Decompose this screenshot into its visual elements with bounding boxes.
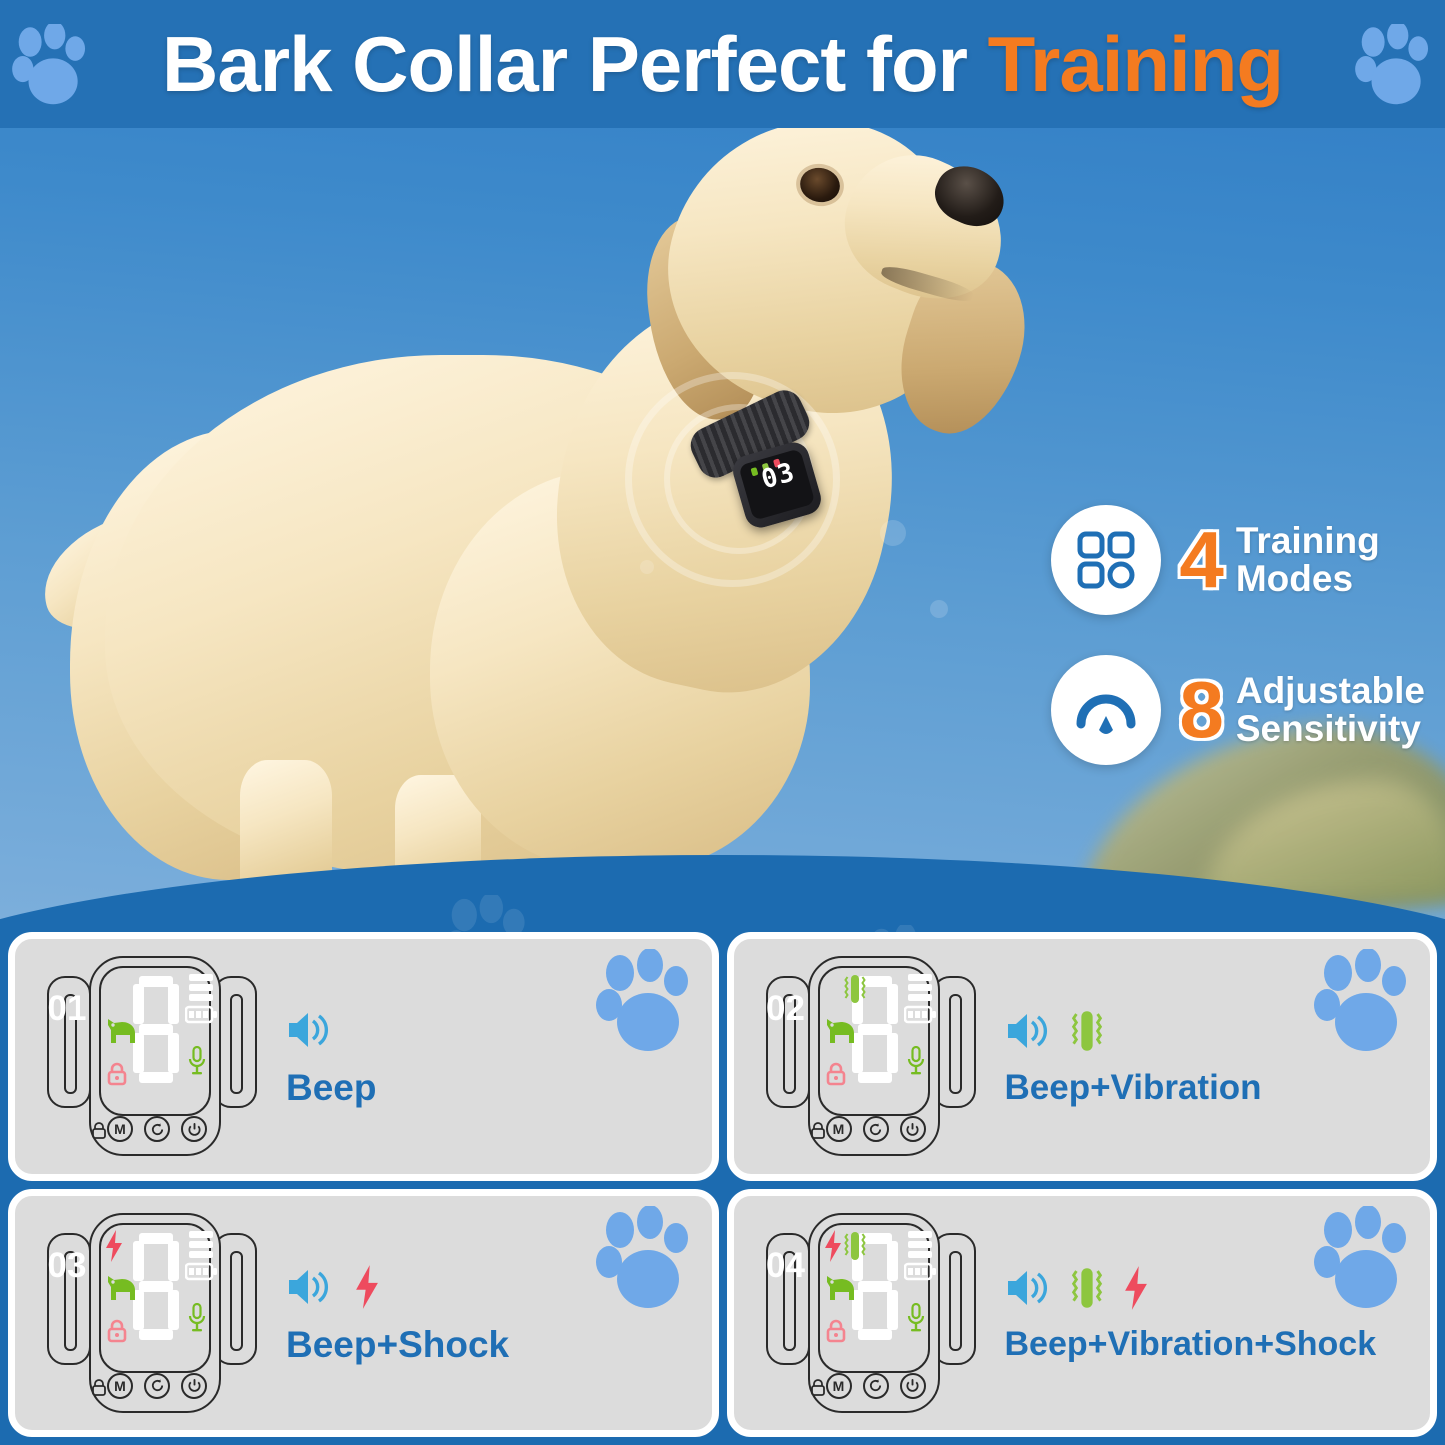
cycle-button[interactable] bbox=[863, 1373, 889, 1399]
step-badge bbox=[592, 949, 696, 1057]
microphone-icon bbox=[906, 1046, 926, 1076]
power-button[interactable] bbox=[900, 1116, 926, 1142]
vibration-icon bbox=[1071, 1007, 1103, 1055]
step-badge bbox=[592, 1206, 696, 1314]
shock-icon bbox=[1121, 1264, 1151, 1312]
speaker-icon bbox=[286, 1008, 334, 1052]
collar-device-diagram: M bbox=[37, 1207, 272, 1419]
step-badge bbox=[1310, 949, 1414, 1057]
padlock-icon bbox=[826, 1062, 846, 1086]
title-main: Bark Collar Perfect for bbox=[162, 20, 988, 108]
feature-training-modes: 4 Training Modes bbox=[1051, 505, 1425, 615]
bokeh-dot bbox=[880, 520, 906, 546]
mode-card[interactable]: M bbox=[727, 1189, 1438, 1438]
mode-card[interactable]: M bbox=[8, 1189, 719, 1438]
step-badge-number: 01 bbox=[15, 989, 119, 1029]
feature-text: Training Modes bbox=[1236, 522, 1380, 597]
refresh-icon bbox=[150, 1122, 165, 1137]
power-button[interactable] bbox=[181, 1116, 207, 1142]
collar-device-diagram: M bbox=[37, 950, 272, 1162]
padlock-icon bbox=[810, 1378, 826, 1396]
feature-number: 8 bbox=[1179, 670, 1224, 750]
header-banner: Bark Collar Perfect for Training bbox=[0, 0, 1445, 128]
vibration-icon bbox=[844, 972, 866, 1006]
battery-level-icon bbox=[904, 974, 936, 1030]
cycle-button[interactable] bbox=[863, 1116, 889, 1142]
padlock-icon bbox=[91, 1378, 107, 1396]
power-icon bbox=[187, 1122, 202, 1137]
feature-icon-circle bbox=[1051, 505, 1161, 615]
mode-button[interactable]: M bbox=[107, 1116, 133, 1142]
product-infographic: 03 Bark Collar Perfect for Training bbox=[0, 0, 1445, 1445]
power-icon bbox=[905, 1378, 920, 1393]
microphone-icon bbox=[906, 1303, 926, 1333]
power-button[interactable] bbox=[181, 1373, 207, 1399]
speaker-icon bbox=[1005, 1009, 1053, 1053]
microphone-icon bbox=[187, 1303, 207, 1333]
feature-line-2: Sensitivity bbox=[1236, 710, 1425, 748]
feature-number: 4 bbox=[1179, 520, 1224, 600]
lcd-digit bbox=[133, 1233, 179, 1341]
power-icon bbox=[905, 1122, 920, 1137]
refresh-icon bbox=[868, 1122, 883, 1137]
mode-card[interactable]: M bbox=[8, 932, 719, 1181]
speaker-icon bbox=[1005, 1266, 1053, 1310]
feature-line-1: Training bbox=[1236, 522, 1380, 560]
speaker-icon bbox=[286, 1265, 334, 1309]
vibration-icon bbox=[844, 1229, 866, 1263]
mode-label: Beep+Shock bbox=[286, 1324, 712, 1366]
bokeh-dot bbox=[640, 560, 654, 574]
mode-card-grid: M bbox=[0, 932, 1445, 1445]
feature-icon-circle bbox=[1051, 655, 1161, 765]
feature-line-1: Adjustable bbox=[1236, 672, 1425, 710]
device-button-row: M bbox=[818, 1116, 930, 1146]
battery-level-icon bbox=[185, 1231, 217, 1287]
refresh-icon bbox=[868, 1378, 883, 1393]
shock-icon bbox=[352, 1263, 382, 1311]
page-title: Bark Collar Perfect for Training bbox=[162, 19, 1283, 110]
power-button[interactable] bbox=[900, 1373, 926, 1399]
collar-device-diagram: M bbox=[756, 1207, 991, 1419]
title-accent: Training bbox=[988, 20, 1283, 108]
microphone-icon bbox=[187, 1046, 207, 1076]
grid-four-squares-icon bbox=[1075, 529, 1137, 591]
bokeh-dot bbox=[930, 600, 948, 618]
mode-label: Beep+Vibration bbox=[1005, 1068, 1431, 1108]
vibration-icon bbox=[1071, 1264, 1103, 1312]
battery-level-icon bbox=[904, 1231, 936, 1287]
step-badge-number: 03 bbox=[15, 1246, 119, 1286]
step-badge-number: 04 bbox=[734, 1246, 838, 1286]
refresh-icon bbox=[150, 1378, 165, 1393]
mode-button[interactable]: M bbox=[107, 1373, 133, 1399]
mode-button[interactable]: M bbox=[826, 1373, 852, 1399]
device-button-row: M bbox=[99, 1373, 211, 1403]
mode-label: Beep+Vibration+Shock bbox=[1005, 1325, 1431, 1364]
device-button-row: M bbox=[818, 1373, 930, 1403]
mode-label: Beep bbox=[286, 1067, 712, 1109]
hero-photo: 03 bbox=[0, 0, 1445, 960]
gauge-icon bbox=[1073, 680, 1139, 740]
cycle-button[interactable] bbox=[144, 1116, 170, 1142]
feature-text: Adjustable Sensitivity bbox=[1236, 672, 1425, 747]
padlock-icon bbox=[107, 1319, 127, 1343]
step-badge bbox=[1310, 1206, 1414, 1314]
battery-level-icon bbox=[185, 974, 217, 1030]
feature-adjustable-sensitivity: 8 Adjustable Sensitivity bbox=[1051, 655, 1425, 765]
feature-line-2: Modes bbox=[1236, 560, 1380, 598]
mode-card[interactable]: M bbox=[727, 932, 1438, 1181]
padlock-icon bbox=[826, 1319, 846, 1343]
padlock-icon bbox=[810, 1121, 826, 1139]
feature-callouts: 4 Training Modes 8 Adjustable Sensitivit… bbox=[1051, 505, 1425, 805]
collar-device-diagram: M bbox=[756, 950, 991, 1162]
mode-button[interactable]: M bbox=[826, 1116, 852, 1142]
padlock-icon bbox=[91, 1121, 107, 1139]
paw-icon bbox=[1351, 24, 1433, 110]
paw-icon bbox=[8, 24, 90, 110]
dog-illustration bbox=[0, 0, 1445, 960]
device-button-row: M bbox=[99, 1116, 211, 1146]
power-icon bbox=[187, 1378, 202, 1393]
step-badge-number: 02 bbox=[734, 989, 838, 1029]
cycle-button[interactable] bbox=[144, 1373, 170, 1399]
lcd-digit bbox=[133, 976, 179, 1084]
padlock-icon bbox=[107, 1062, 127, 1086]
